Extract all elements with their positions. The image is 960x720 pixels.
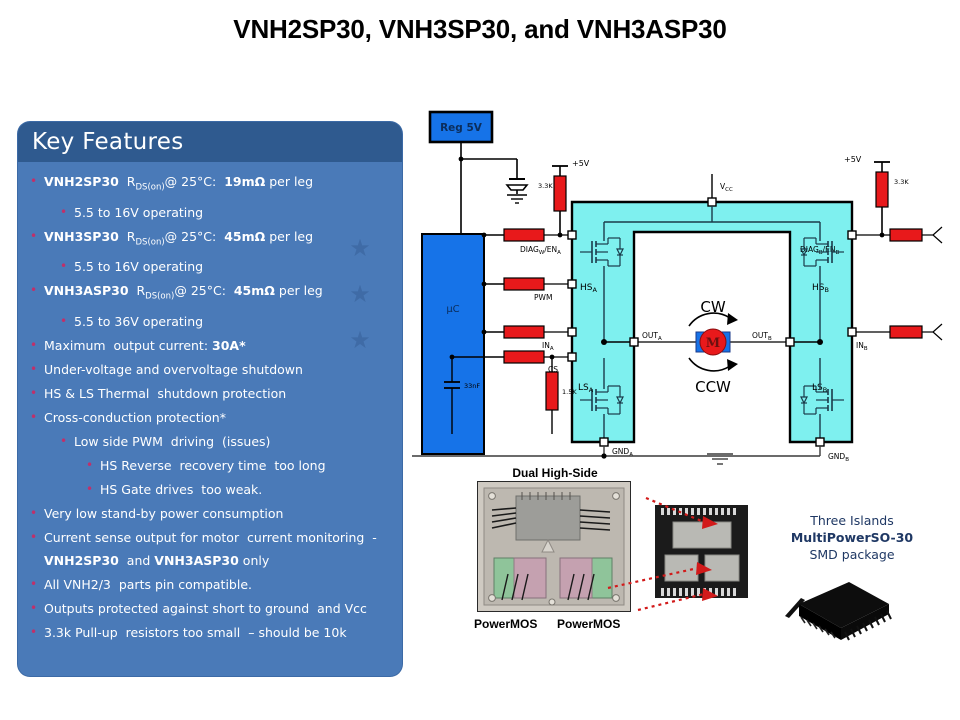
page-title: VNH2SP30, VNH3SP30, and VNH3ASP30 (0, 14, 960, 45)
pin-vcc (708, 198, 716, 206)
application-circuit-diagram: µC Reg 5V +5V 3.3K +5V 3.3K DIAGW/ENA PW… (412, 104, 948, 464)
cs-resistor-value: 1.5K (562, 388, 577, 396)
ground-symbol (703, 452, 737, 474)
feature-bullet: VNH3SP30 RDS(on)@ 25°C: 45mΩ per leg (24, 225, 392, 255)
feature-bullet: 5.5 to 16V operating (24, 255, 392, 278)
smd-package-photo (771, 576, 899, 652)
label-gnd-b: GNDB (828, 452, 849, 463)
series-resistor-diag-b (890, 229, 922, 241)
feature-bullet: 5.5 to 16V operating (24, 201, 392, 224)
key-features-title: Key Features (32, 129, 184, 155)
ccw-arrow-head (727, 359, 738, 371)
series-resistor-pwm (504, 278, 544, 290)
mcu-block (422, 234, 484, 454)
feature-bullet: Outputs protected against short to groun… (24, 597, 392, 620)
label-in-b: INB (856, 341, 868, 352)
supply-right-label: +5V (844, 155, 862, 164)
feature-bullet: Under-voltage and overvoltage shutdown (24, 358, 392, 381)
pin-gnd-b (816, 438, 824, 446)
pin-cs (568, 353, 576, 361)
pin-gnd-a (600, 438, 608, 446)
feature-bullet: Low side PWM driving (issues) (24, 430, 392, 453)
powermos-right-label: PowerMOS (557, 617, 620, 631)
pullup-resistor-right (876, 172, 888, 207)
motor-label: M (706, 336, 720, 351)
feature-bullet: VNH2SP30 RDS(on)@ 25°C: 19mΩ per leg (24, 170, 392, 200)
label-in-a: INA (542, 341, 554, 352)
pin-diag-b (848, 231, 856, 239)
label-ccw: CCW (695, 378, 731, 396)
pin-pwm (568, 280, 576, 288)
cw-arrow-head (727, 313, 738, 325)
islands-line-3: SMD package (762, 546, 942, 563)
feature-bullet: 3.3k Pull-up resistors too small – shoul… (24, 621, 392, 644)
series-resistor-cs (504, 351, 544, 363)
series-resistor-diag-a (504, 229, 544, 241)
label-pwm: PWM (534, 293, 552, 302)
key-features-body: VNH2SP30 RDS(on)@ 25°C: 19mΩ per leg5.5 … (18, 162, 402, 676)
mcu-label: µC (446, 304, 459, 315)
reg5v-label: Reg 5V (440, 122, 483, 134)
feature-bullet: HS Gate drives too weak. (24, 478, 392, 501)
feature-bullet: Maximum output current: 30A* (24, 334, 392, 357)
islands-line-2: MultiPowerSO-30 (762, 529, 942, 546)
pullup-resistor-left (554, 176, 566, 211)
ccw-arc (689, 358, 730, 371)
feature-bullet: 5.5 to 36V operating (24, 310, 392, 333)
label-out-a: OUTA (642, 331, 662, 342)
supply-left-label: +5V (572, 159, 590, 168)
pin-in-a (568, 328, 576, 336)
dual-high-side-label: Dual High-Side (470, 466, 640, 480)
three-islands-caption: Three Islands MultiPowerSO-30 SMD packag… (762, 512, 942, 563)
pullup-right-value: 3.3K (894, 178, 909, 186)
series-resistor-in-a (504, 326, 544, 338)
feature-bullet: VNH3ASP30 RDS(on)@ 25°C: 45mΩ per leg (24, 279, 392, 309)
feature-bullet: Current sense output for motor current m… (24, 526, 392, 572)
islands-line-1: Three Islands (762, 512, 942, 529)
feature-bullet: Cross-conduction protection* (24, 406, 392, 429)
powermos-left-label: PowerMOS (474, 617, 537, 631)
label-out-b: OUTB (752, 331, 772, 342)
label-cw: CW (700, 298, 725, 316)
key-features-header: Key Features (18, 122, 402, 162)
cs-sense-resistor (546, 372, 558, 410)
series-resistor-in-b (890, 326, 922, 338)
feature-list: VNH2SP30 RDS(on)@ 25°C: 19mΩ per leg5.5 … (24, 170, 392, 644)
key-features-panel: Key Features VNH2SP30 RDS(on)@ 25°C: 19m… (18, 122, 402, 676)
pin-out-b (786, 338, 794, 346)
package-cutaway-photo (655, 505, 748, 598)
pin-out-a (630, 338, 638, 346)
die-photo (477, 481, 631, 612)
cap-value-label: 33nF (464, 382, 480, 390)
pullup-left-value: 3.3K (538, 182, 553, 190)
pin-in-b (848, 328, 856, 336)
feature-bullet: HS Reverse recovery time too long (24, 454, 392, 477)
feature-bullet: All VNH2/3 parts pin compatible. (24, 573, 392, 596)
label-vcc: VCC (720, 182, 733, 193)
label-diag-a: DIAGW/ENA (520, 245, 561, 256)
feature-bullet: HS & LS Thermal shutdown protection (24, 382, 392, 405)
feature-bullet: Very low stand-by power consumption (24, 502, 392, 525)
pin-diag-a (568, 231, 576, 239)
